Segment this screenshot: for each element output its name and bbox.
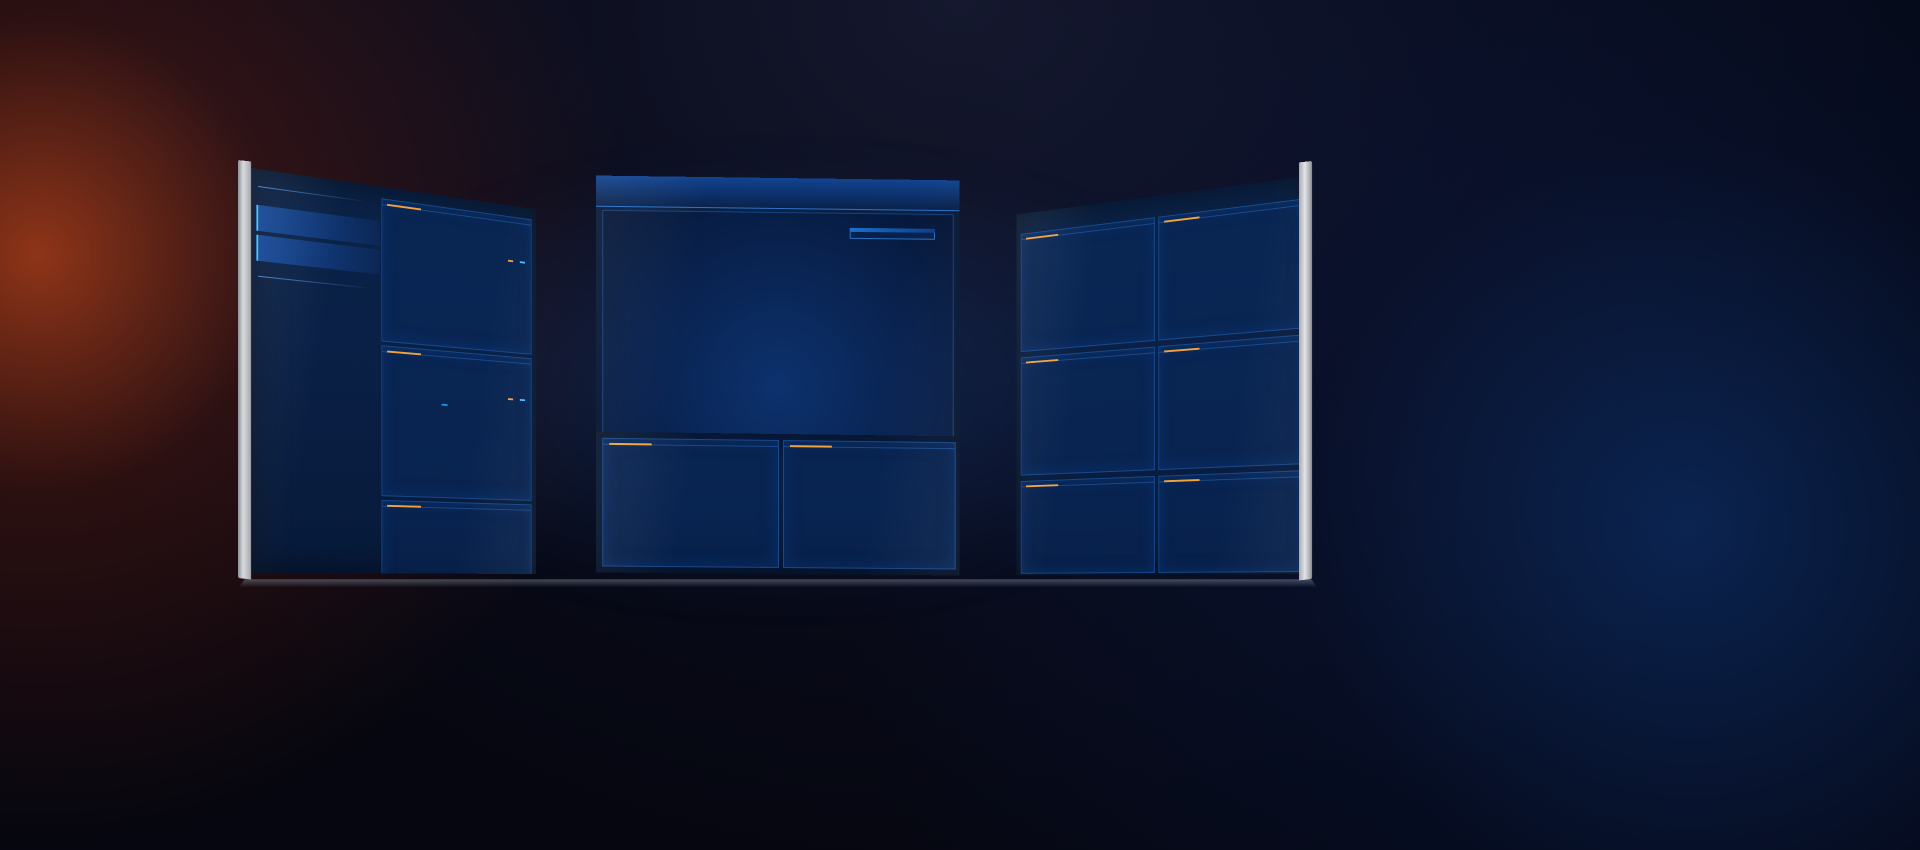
accident-overview (258, 183, 370, 202)
highway-legend (508, 397, 526, 404)
toll-3-chart (1022, 386, 1155, 475)
video-wall-segment-right (1016, 176, 1308, 576)
card-online-rate (1158, 470, 1304, 573)
card-toll-1-title (1022, 218, 1155, 240)
toll-4-chart (1159, 375, 1303, 469)
highway-in-out-chart (382, 405, 531, 498)
legend-highway-out (520, 398, 527, 404)
legend-in (508, 259, 515, 265)
accident-list[interactable] (258, 313, 375, 563)
in-out-legend (508, 259, 526, 267)
card-in-out-flow (381, 198, 531, 354)
poster-title-wrap (0, 86, 1920, 104)
in-out-flow-chart (382, 257, 531, 352)
card-toll-2 (1158, 198, 1304, 340)
card-highway-flow-2 (602, 438, 779, 568)
card-toll-4 (1158, 334, 1304, 470)
highway-flow-2-chart (603, 493, 778, 567)
card-toll-3 (1021, 347, 1155, 476)
toll-2-chart (1159, 240, 1303, 340)
legend-out (520, 260, 527, 266)
highway-flow-1-chart (382, 551, 531, 574)
card-highway-in-out (381, 345, 531, 501)
highway-flow-4-chart (1022, 524, 1155, 572)
accident-overview-title (258, 183, 370, 199)
map-tooltip (850, 228, 935, 240)
card-highway-flow-4 (1021, 476, 1155, 574)
map-tooltip-metric-label (855, 235, 930, 236)
accident-list-title (258, 273, 371, 285)
legend-highway-in (508, 397, 515, 403)
accident-count-row (258, 293, 373, 305)
dashboard-header (596, 176, 960, 212)
card-highway-flow-3 (783, 440, 956, 569)
accident-list-header (258, 273, 371, 289)
toll-1-chart (1022, 256, 1155, 351)
screen-base (239, 579, 1316, 587)
highway-tooltip (441, 404, 447, 406)
video-wall-segment-left (251, 168, 536, 574)
card-toll-2-title (1159, 200, 1303, 224)
video-wall-bottom-center (596, 432, 960, 576)
card-toll-1 (1021, 217, 1155, 352)
screen-bezel-left (238, 160, 251, 580)
screen-bezel-right (1299, 161, 1312, 580)
highway-flow-3-chart (784, 495, 955, 568)
poster-stage (0, 0, 1920, 850)
card-highway-flow-1 (381, 500, 531, 574)
